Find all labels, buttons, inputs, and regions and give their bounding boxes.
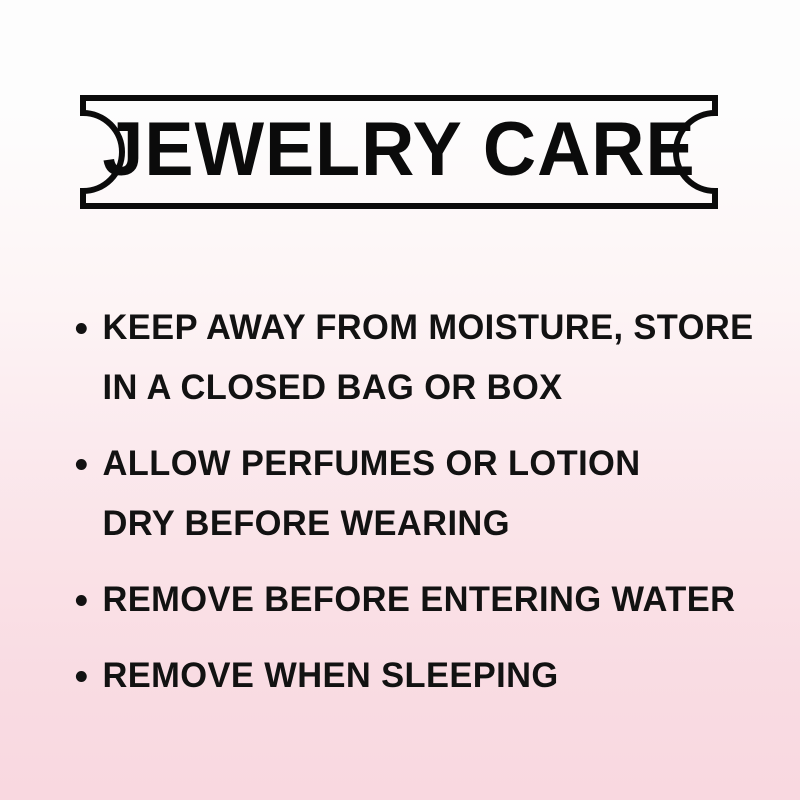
- list-item: REMOVE BEFORE ENTERING WATER: [70, 570, 760, 630]
- care-item-text: KEEP AWAY FROM MOISTURE, STORE IN A CLOS…: [103, 298, 758, 418]
- bullet-icon: [76, 671, 87, 682]
- care-item-text: REMOVE WHEN SLEEPING: [103, 646, 753, 706]
- care-instructions-list: KEEP AWAY FROM MOISTURE, STORE IN A CLOS…: [70, 298, 770, 722]
- list-item: KEEP AWAY FROM MOISTURE, STORE IN A CLOS…: [70, 298, 760, 418]
- care-item-text: REMOVE BEFORE ENTERING WATER: [103, 570, 753, 630]
- bullet-icon: [76, 459, 87, 470]
- bullet-icon: [76, 323, 87, 334]
- list-item: ALLOW PERFUMES OR LOTION DRY BEFORE WEAR…: [70, 434, 760, 554]
- bullet-icon: [76, 595, 87, 606]
- list-item: REMOVE WHEN SLEEPING: [70, 646, 760, 706]
- jewelry-care-card: JEWELRY CARE KEEP AWAY FROM MOISTURE, ST…: [0, 0, 800, 800]
- title-banner: JEWELRY CARE: [80, 95, 718, 209]
- care-item-text: ALLOW PERFUMES OR LOTION DRY BEFORE WEAR…: [103, 434, 719, 554]
- page-title: JEWELRY CARE: [90, 95, 709, 209]
